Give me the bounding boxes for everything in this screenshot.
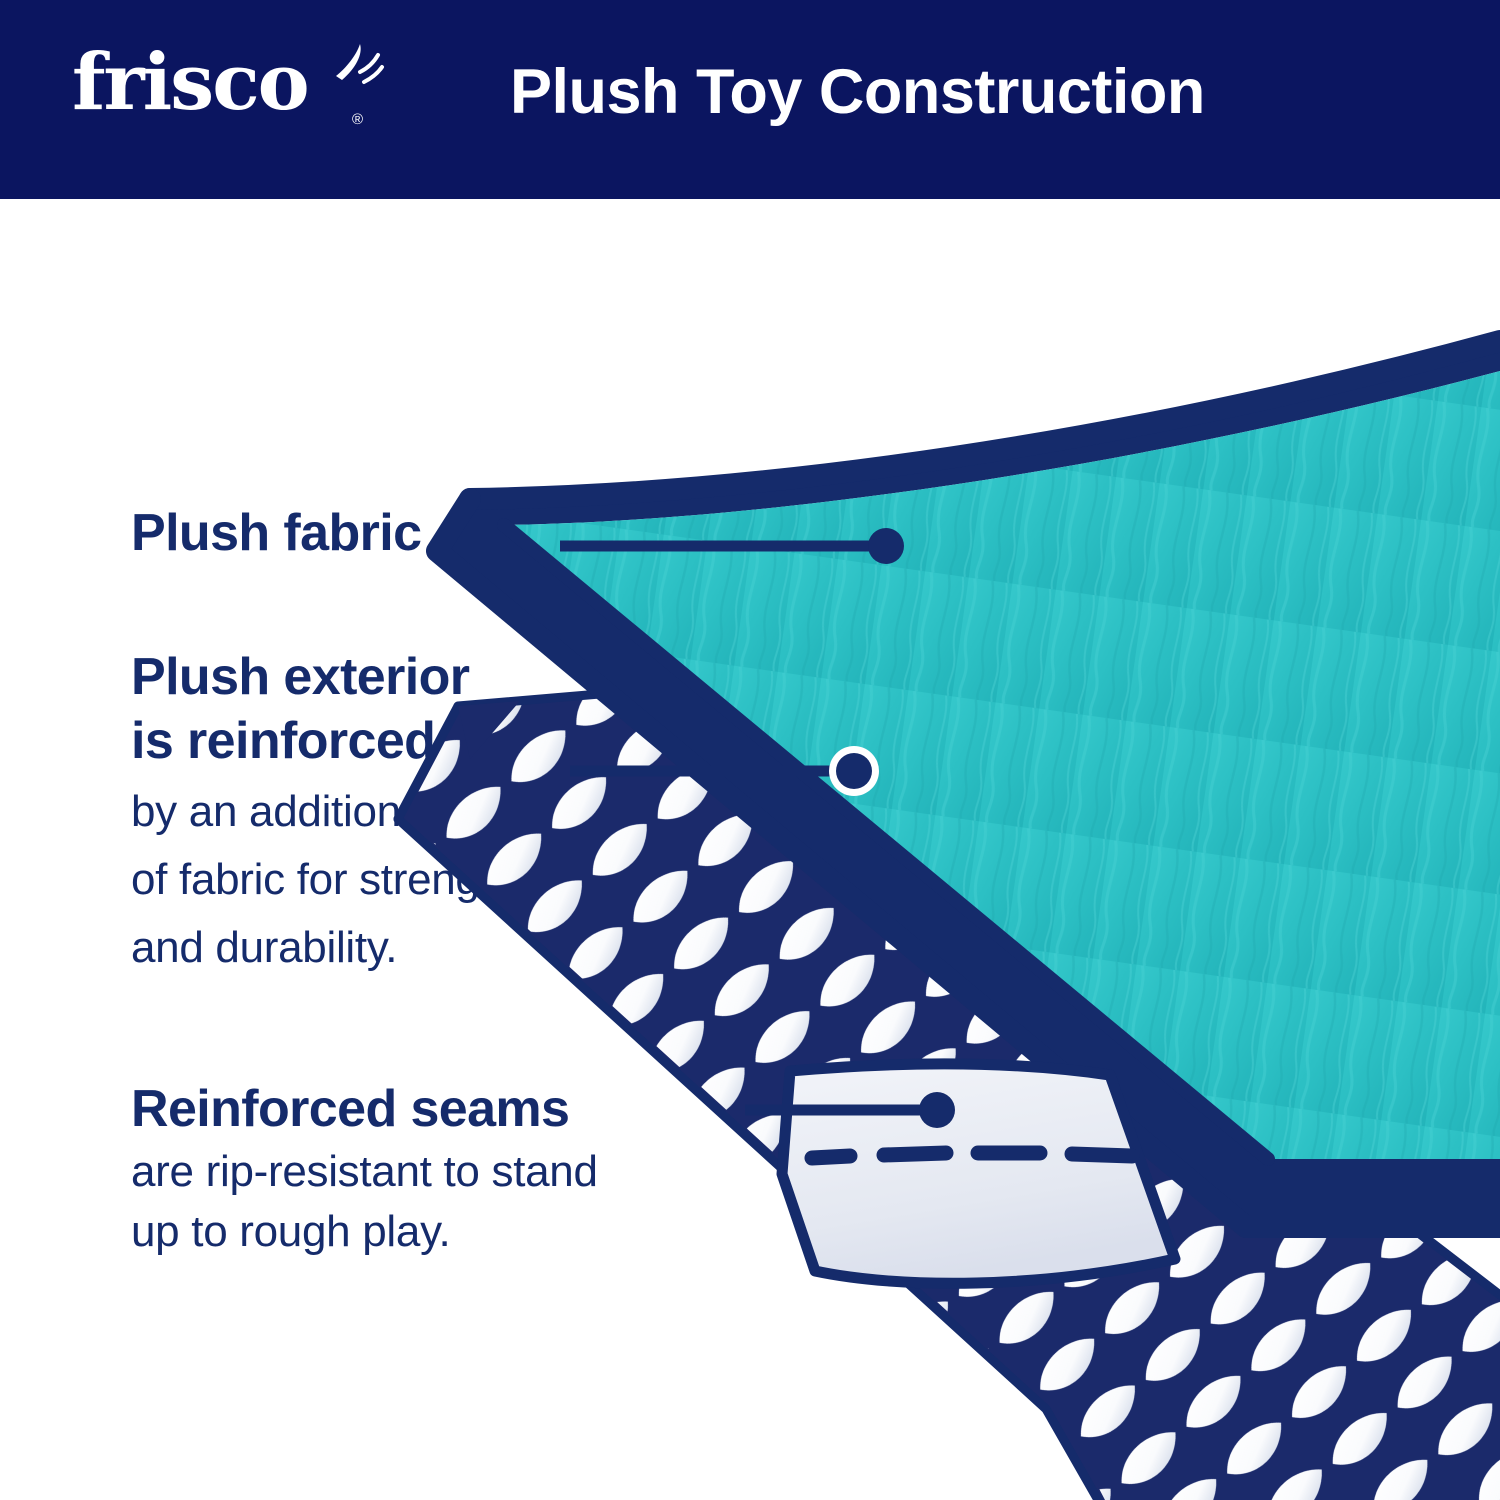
infographic-page: frisco ® Plush Toy Construction Plush fa… <box>0 0 1500 1500</box>
page-title: Plush Toy Construction <box>510 52 1205 132</box>
plush-toy-cutaway-illustration <box>0 199 1500 1500</box>
logo-swish-icon <box>330 42 390 92</box>
registered-trademark-mark: ® <box>352 112 363 127</box>
header-bar: frisco ® Plush Toy Construction <box>0 0 1500 199</box>
leader-dot-plush-exterior <box>836 753 872 789</box>
leader-dot-plush-fabric <box>868 528 904 564</box>
leader-dot-reinforced-seams <box>919 1092 955 1128</box>
seam-flap <box>782 1064 1175 1283</box>
frisco-logo: frisco <box>72 44 308 122</box>
